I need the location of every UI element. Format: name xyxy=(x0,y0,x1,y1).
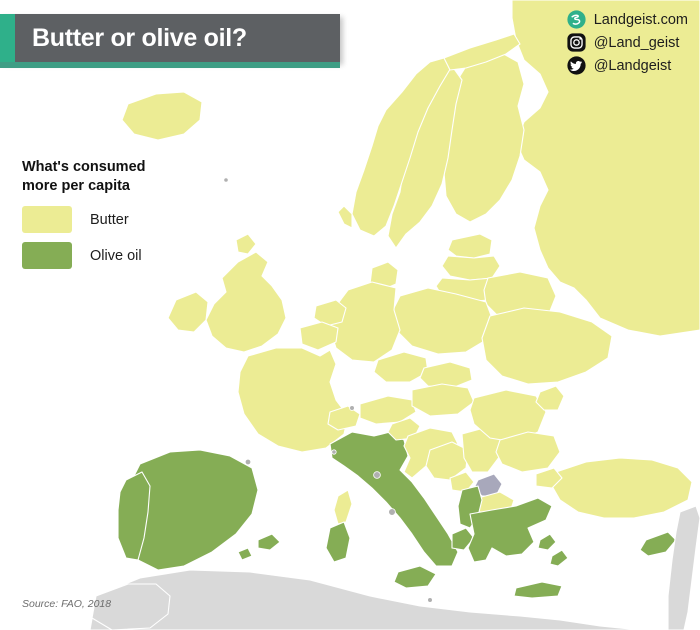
attribution-label-twitter: @Landgeist xyxy=(594,58,672,74)
microstate-malta-dot xyxy=(428,598,433,603)
country-scotland-islands xyxy=(236,234,256,254)
microstate-san-marino-dot xyxy=(374,472,381,479)
legend-title: What's consumed more per capita xyxy=(22,158,162,195)
attribution-label-instagram: @Land_geist xyxy=(594,35,680,51)
country-ireland xyxy=(168,292,208,332)
legend-item-butter: Butter xyxy=(22,206,192,233)
region-north-africa xyxy=(90,570,640,630)
attribution-row-twitter[interactable]: @Landgeist xyxy=(567,56,688,75)
source-note: Source: FAO, 2018 xyxy=(22,598,111,610)
instagram-icon xyxy=(567,33,586,52)
greek-islands-aegean xyxy=(538,534,556,550)
region-levant xyxy=(668,506,700,630)
twitter-icon xyxy=(567,56,586,75)
infographic-canvas: Butter or olive oil? Landgeist.com @Land… xyxy=(0,0,700,630)
legend-swatch-olive-oil xyxy=(22,242,72,269)
map-legend: What's consumed more per capita Butter O… xyxy=(22,158,192,278)
island-crete xyxy=(514,582,562,598)
attribution-label-website: Landgeist.com xyxy=(594,12,688,28)
title-accent-bar xyxy=(0,14,15,62)
microstate-liechtenstein-dot xyxy=(350,406,355,411)
attribution-row-instagram[interactable]: @Land_geist xyxy=(567,33,688,52)
microstate-andorra-dot xyxy=(245,459,251,465)
legend-item-olive-oil: Olive oil xyxy=(22,242,192,269)
legend-swatch-butter xyxy=(22,206,72,233)
country-united-kingdom xyxy=(206,252,286,352)
page-title: Butter or olive oil? xyxy=(32,24,247,53)
country-moldova xyxy=(536,386,564,410)
legend-label-butter: Butter xyxy=(90,212,129,228)
country-norway-coast-islands xyxy=(338,206,352,228)
title-banner: Butter or olive oil? xyxy=(0,14,340,62)
attribution-row-website[interactable]: Landgeist.com xyxy=(567,10,688,29)
country-netherlands xyxy=(314,300,346,326)
country-iceland xyxy=(122,92,202,140)
island-balearics xyxy=(258,534,280,550)
globe-icon xyxy=(567,10,586,29)
microstate-vatican-dot xyxy=(389,509,396,516)
country-cyprus xyxy=(640,532,676,556)
microstate-faroe-dot xyxy=(224,178,228,182)
microstate-monaco-dot xyxy=(332,450,336,454)
country-france xyxy=(238,348,348,452)
island-sardinia xyxy=(326,522,350,562)
country-latvia xyxy=(442,256,500,280)
europe-choropleth-map xyxy=(0,0,700,630)
country-bulgaria xyxy=(496,432,560,472)
title-underline-bar xyxy=(0,62,340,68)
legend-label-olive-oil: Olive oil xyxy=(90,248,142,264)
island-balearics-ibiza xyxy=(238,548,252,560)
island-corsica xyxy=(334,490,352,524)
country-estonia xyxy=(448,234,492,258)
country-turkey xyxy=(552,458,692,518)
greek-islands-aegean-2 xyxy=(550,550,568,566)
country-belgium xyxy=(300,322,338,350)
country-hungary xyxy=(412,384,474,416)
country-ukraine xyxy=(482,308,612,384)
attribution-block: Landgeist.com @Land_geist @Landgeist xyxy=(567,10,688,75)
island-sicily xyxy=(394,566,436,588)
